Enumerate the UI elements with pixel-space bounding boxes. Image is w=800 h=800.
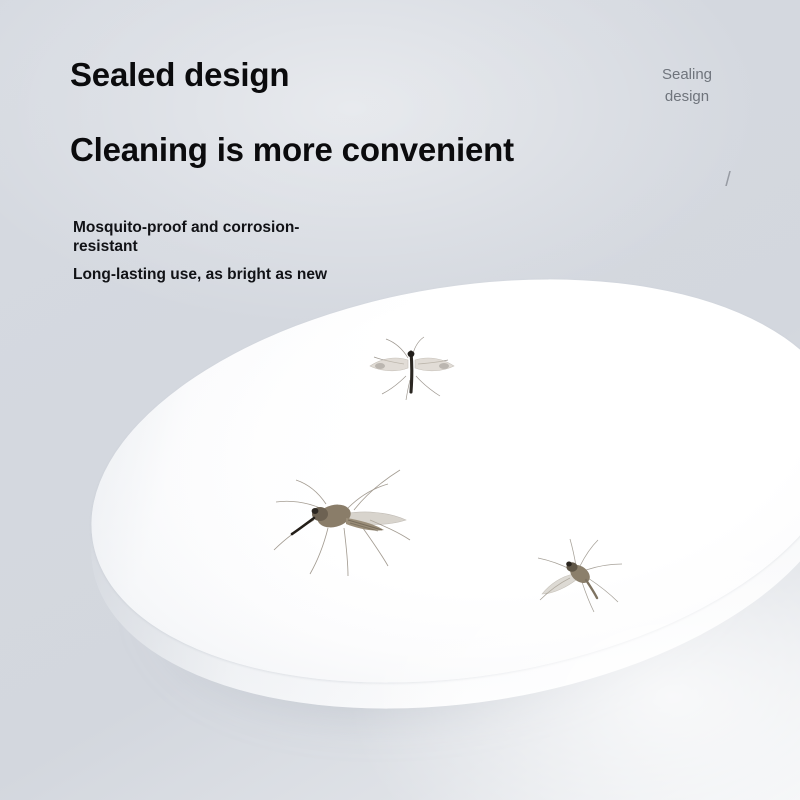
corner-slash-mark: / [716,166,740,194]
product-marketing-image: Sealed design Cleaning is more convenien… [0,0,800,800]
feature-text-longlasting: Long-lasting use, as bright as new [73,266,327,285]
mosquito-side-profile-icon [248,462,418,587]
feature-text-corrosion: Mosquito-proof and corrosion-resistant [73,219,343,257]
corner-note-line-1: Sealing [632,64,742,86]
mosquito-wings-spread-icon [352,330,472,410]
headline-secondary: Cleaning is more convenient [70,131,514,169]
headline-primary: Sealed design [70,56,289,94]
corner-note-line-2: design [632,86,742,108]
mosquito-small-icon [528,536,628,614]
corner-note: Sealing design [632,64,742,108]
